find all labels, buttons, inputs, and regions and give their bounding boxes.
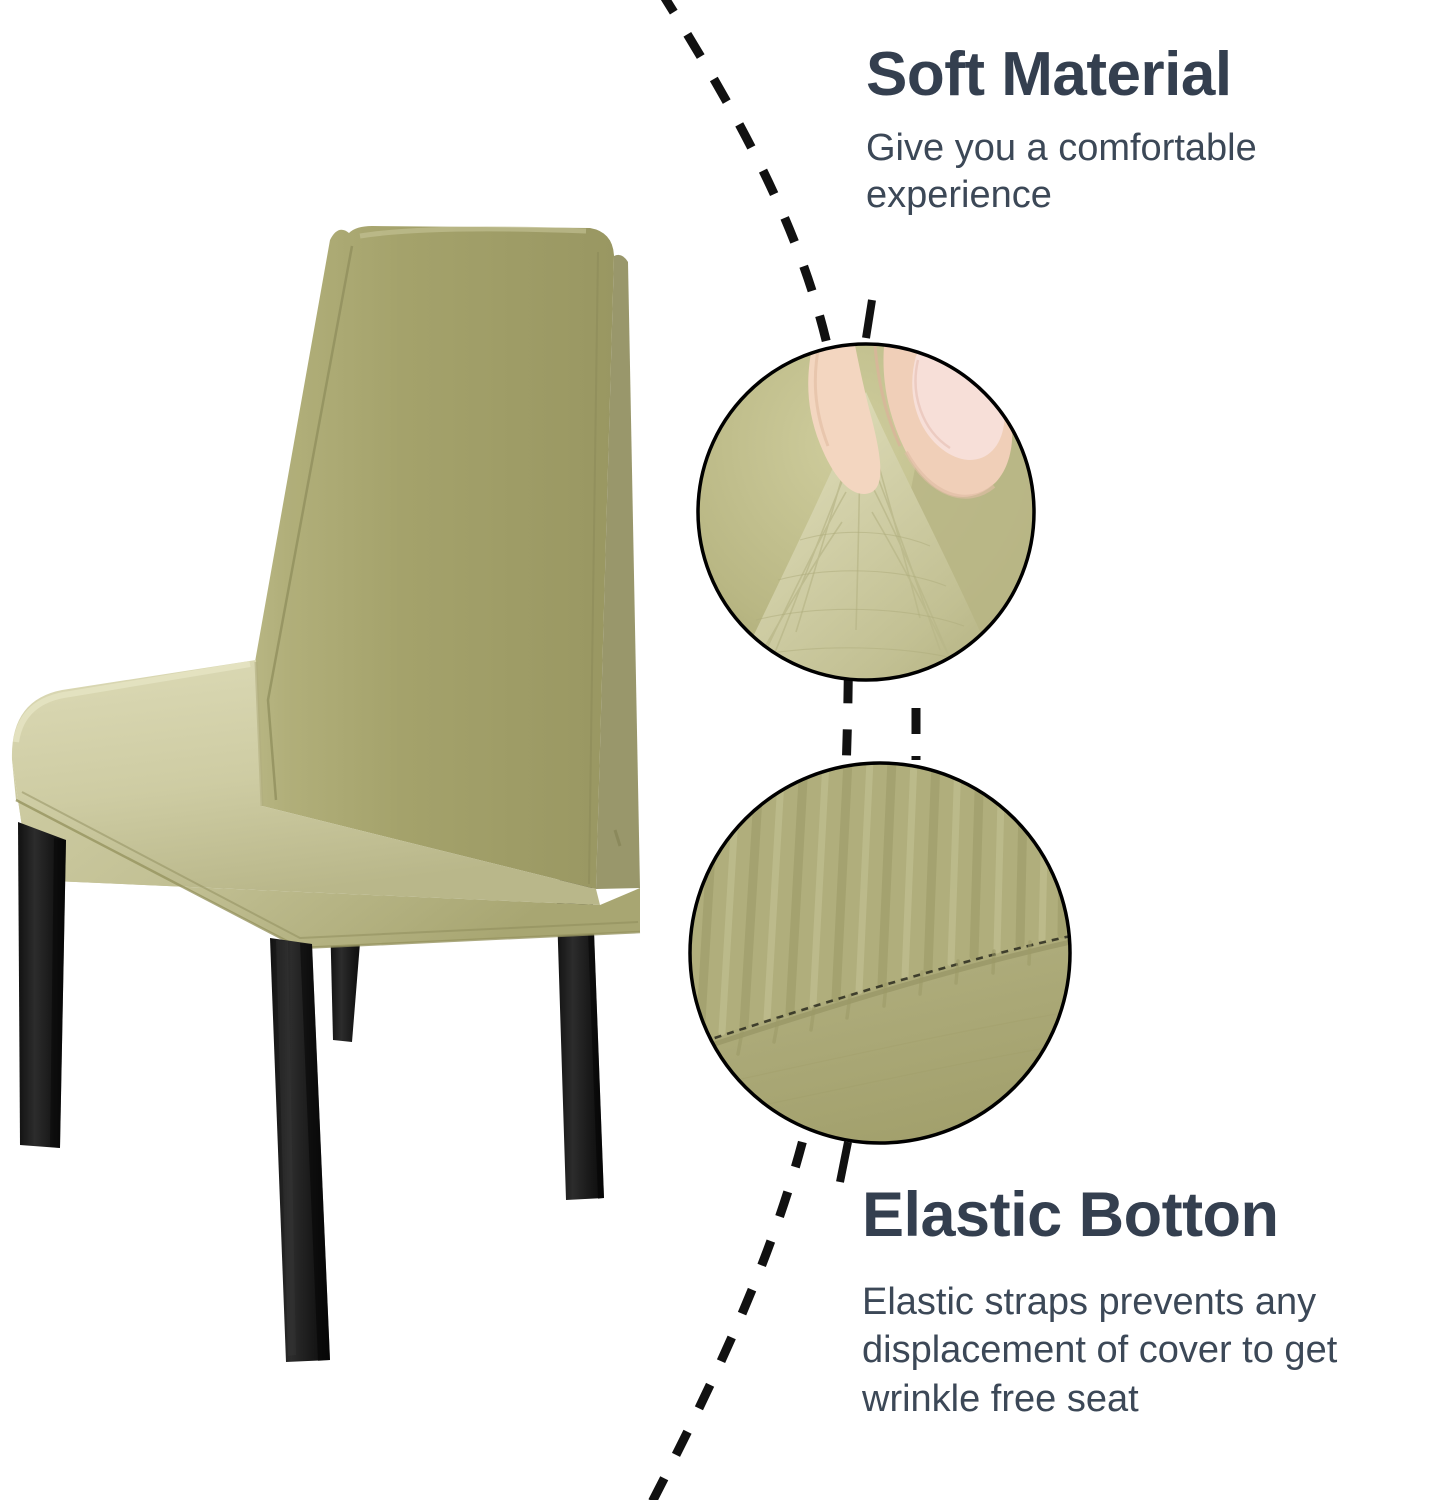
- chair-leg-front-middle: [270, 938, 330, 1362]
- soft-material-headline: Soft Material: [866, 42, 1426, 107]
- leader-line-bottom: [840, 1142, 848, 1182]
- soft-material-description: Give you a comfortable experience: [866, 125, 1426, 219]
- feature-block-elastic-bottom: Elastic Botton Elastic straps prevents a…: [862, 1182, 1437, 1423]
- elastic-bottom-headline: Elastic Botton: [862, 1182, 1437, 1248]
- detail-circle-fabric-pinch[interactable]: [690, 315, 1050, 710]
- chair-back: [250, 226, 614, 889]
- dashed-divider-arc: [648, 0, 849, 1500]
- feature-block-soft-material: Soft Material Give you a comfortable exp…: [866, 42, 1426, 219]
- leader-line-top: [866, 300, 872, 338]
- detail-circle-elastic-hem[interactable]: [690, 760, 1080, 1160]
- chair-leg-front-left: [18, 822, 66, 1148]
- infographic-canvas: Soft Material Give you a comfortable exp…: [0, 0, 1439, 1500]
- elastic-bottom-description: Elastic straps prevents any displacement…: [862, 1278, 1437, 1423]
- chair-illustration: [12, 226, 640, 1362]
